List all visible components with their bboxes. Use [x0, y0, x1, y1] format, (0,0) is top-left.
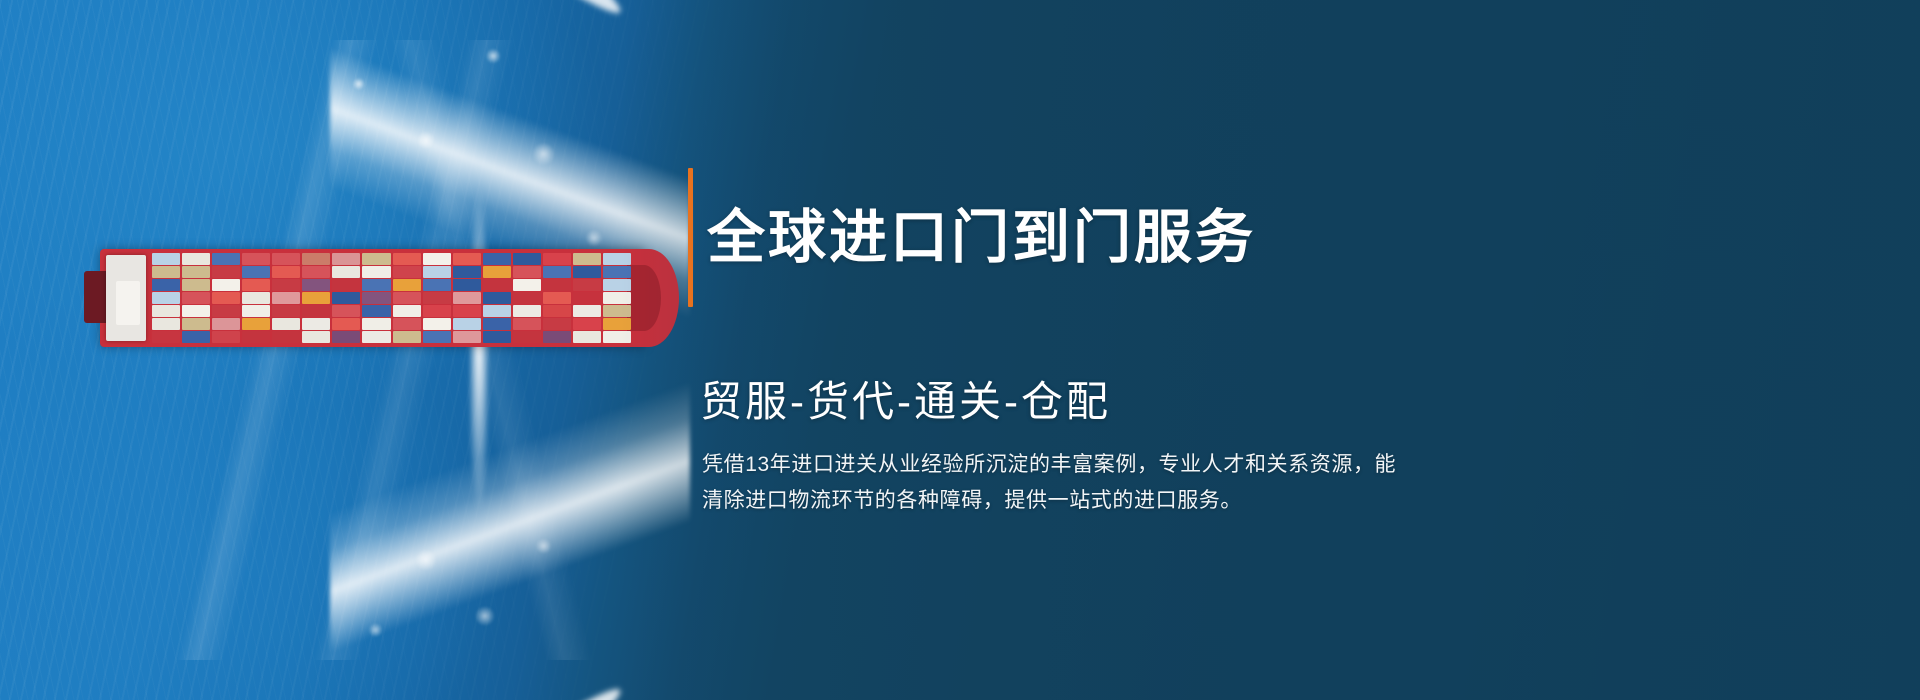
shipping-container: [332, 305, 360, 317]
shipping-container: [393, 279, 421, 291]
shipping-container: [212, 292, 240, 304]
container-bay: [272, 253, 300, 343]
shipping-container: [453, 292, 481, 304]
shipping-container: [483, 318, 511, 330]
shipping-container: [332, 292, 360, 304]
shipping-container: [513, 253, 541, 265]
shipping-container: [573, 253, 601, 265]
shipping-container: [272, 292, 300, 304]
shipping-container: [242, 331, 270, 343]
shipping-container: [152, 331, 180, 343]
accent-bar-icon: [688, 168, 693, 307]
container-bay: [513, 253, 541, 343]
shipping-container: [483, 305, 511, 317]
shipping-container: [543, 292, 571, 304]
shipping-container: [212, 279, 240, 291]
shipping-container: [302, 279, 330, 291]
shipping-container: [573, 331, 601, 343]
shipping-container: [393, 305, 421, 317]
shipping-container: [362, 318, 390, 330]
shipping-container: [453, 279, 481, 291]
shipping-container: [152, 318, 180, 330]
shipping-container: [242, 279, 270, 291]
container-bay: [242, 253, 270, 343]
shipping-container: [483, 279, 511, 291]
shipping-container: [332, 253, 360, 265]
shipping-container: [453, 331, 481, 343]
shipping-container: [603, 279, 631, 291]
shipping-container: [272, 305, 300, 317]
shipping-container: [453, 318, 481, 330]
shipping-container: [513, 292, 541, 304]
shipping-container: [483, 253, 511, 265]
container-bay: [152, 253, 180, 343]
shipping-container: [362, 279, 390, 291]
shipping-container: [573, 318, 601, 330]
shipping-container: [152, 253, 180, 265]
ship-bow-tip: [627, 265, 661, 331]
container-ship: [100, 249, 645, 347]
shipping-container: [182, 305, 210, 317]
shipping-container: [362, 253, 390, 265]
shipping-container: [212, 305, 240, 317]
shipping-container: [332, 331, 360, 343]
container-deck: [152, 253, 631, 343]
shipping-container: [242, 253, 270, 265]
shipping-container: [423, 331, 451, 343]
container-bay: [212, 253, 240, 343]
shipping-container: [302, 292, 330, 304]
shipping-container: [272, 318, 300, 330]
shipping-container: [453, 266, 481, 278]
shipping-container: [182, 292, 210, 304]
shipping-container: [513, 266, 541, 278]
page-title: 全球进口门到门服务: [707, 207, 1256, 268]
shipping-container: [302, 266, 330, 278]
shipping-container: [603, 305, 631, 317]
shipping-container: [603, 331, 631, 343]
shipping-container: [393, 266, 421, 278]
shipping-container: [423, 253, 451, 265]
shipping-container: [302, 331, 330, 343]
shipping-container: [182, 331, 210, 343]
shipping-container: [603, 253, 631, 265]
shipping-container: [152, 292, 180, 304]
shipping-container: [242, 266, 270, 278]
shipping-container: [423, 279, 451, 291]
container-bay: [423, 253, 451, 343]
shipping-container: [212, 266, 240, 278]
shipping-container: [513, 279, 541, 291]
wake-spray: [300, 0, 720, 700]
shipping-container: [152, 305, 180, 317]
container-bay: [573, 253, 601, 343]
shipping-container: [272, 331, 300, 343]
shipping-container: [603, 318, 631, 330]
shipping-container: [393, 331, 421, 343]
shipping-container: [423, 318, 451, 330]
shipping-container: [182, 253, 210, 265]
ship-wake: [0, 0, 760, 700]
banner-copy: 全球进口门到门服务 贸服-货代-通关-仓配 凭借13年进口进关从业经验所沉淀的丰…: [700, 168, 1460, 520]
subtitle: 贸服-货代-通关-仓配: [700, 379, 1460, 425]
shipping-container: [603, 266, 631, 278]
shipping-container: [393, 292, 421, 304]
shipping-container: [423, 292, 451, 304]
shipping-container: [242, 318, 270, 330]
shipping-container: [182, 266, 210, 278]
shipping-container: [513, 318, 541, 330]
shipping-container: [543, 279, 571, 291]
container-bay: [453, 253, 481, 343]
container-bay: [603, 253, 631, 343]
shipping-container: [272, 253, 300, 265]
shipping-container: [212, 318, 240, 330]
shipping-container: [362, 331, 390, 343]
shipping-container: [362, 292, 390, 304]
shipping-container: [362, 305, 390, 317]
headline-row: 全球进口门到门服务: [688, 168, 1460, 307]
shipping-container: [302, 253, 330, 265]
shipping-container: [543, 266, 571, 278]
shipping-container: [453, 305, 481, 317]
container-bay: [182, 253, 210, 343]
shipping-container: [393, 253, 421, 265]
shipping-container: [332, 279, 360, 291]
shipping-container: [483, 292, 511, 304]
shipping-container: [483, 266, 511, 278]
container-bay: [543, 253, 571, 343]
shipping-container: [543, 331, 571, 343]
shipping-container: [242, 305, 270, 317]
shipping-container: [332, 266, 360, 278]
ship-bridge: [106, 255, 146, 341]
shipping-container: [573, 292, 601, 304]
container-bay: [302, 253, 330, 343]
shipping-container: [513, 331, 541, 343]
shipping-container: [362, 266, 390, 278]
ship-bridge-tower: [116, 281, 140, 325]
shipping-container: [182, 279, 210, 291]
shipping-container: [272, 279, 300, 291]
shipping-container: [182, 318, 210, 330]
container-bay: [393, 253, 421, 343]
shipping-container: [423, 305, 451, 317]
shipping-container: [603, 292, 631, 304]
container-bay: [332, 253, 360, 343]
description-paragraph: 凭借13年进口进关从业经验所沉淀的丰富案例，专业人才和关系资源，能清除进口物流环…: [702, 447, 1402, 519]
shipping-container: [212, 253, 240, 265]
shipping-container: [543, 305, 571, 317]
shipping-container: [152, 266, 180, 278]
shipping-container: [242, 292, 270, 304]
shipping-container: [573, 266, 601, 278]
container-bay: [362, 253, 390, 343]
shipping-container: [543, 318, 571, 330]
shipping-container: [212, 331, 240, 343]
shipping-container: [573, 305, 601, 317]
shipping-container: [543, 253, 571, 265]
shipping-container: [483, 331, 511, 343]
shipping-container: [573, 279, 601, 291]
shipping-container: [513, 305, 541, 317]
shipping-container: [302, 318, 330, 330]
shipping-container: [423, 266, 451, 278]
shipping-container: [302, 305, 330, 317]
shipping-container: [272, 266, 300, 278]
shipping-container: [332, 318, 360, 330]
shipping-container: [453, 253, 481, 265]
container-bay: [483, 253, 511, 343]
shipping-container: [393, 318, 421, 330]
hero-banner: 全球进口门到门服务 贸服-货代-通关-仓配 凭借13年进口进关从业经验所沉淀的丰…: [0, 0, 1920, 700]
shipping-container: [152, 279, 180, 291]
